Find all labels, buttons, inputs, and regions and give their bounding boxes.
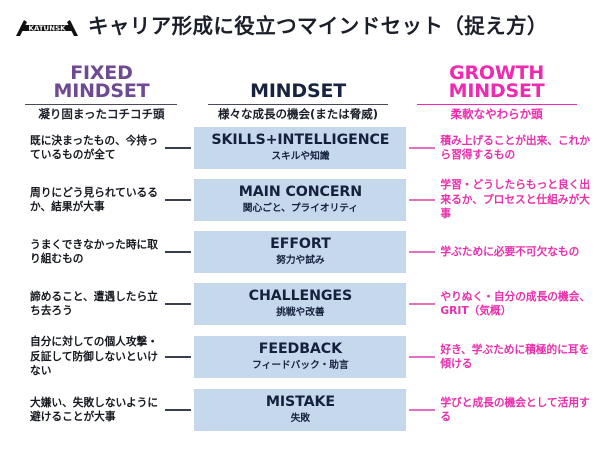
fixed-mindset-title: FIXED MINDSET	[8, 64, 195, 101]
growth-title-line2: MINDSET	[401, 82, 592, 101]
topic-label-ja: スキルや知識	[196, 150, 404, 163]
title-bar: KATUNSK キャリア形成に役立つマインドセット（捉え方）	[0, 0, 600, 52]
topic-label-ja: フィードバック・助言	[196, 359, 404, 372]
topic-label-en: EFFORT	[196, 236, 404, 253]
column-headers: FIXED MINDSET 凝り固まったコチコチ頭 MINDSET 様々な成長の…	[0, 52, 600, 122]
fixed-mindset-text: 自分に対しての個人攻撃・反証して防御しないといけない	[8, 335, 162, 379]
fixed-mindset-text: 既に決まったもの、今持っているものが全て	[8, 134, 162, 163]
topic-box: EFFORT 努力や試み	[194, 231, 406, 273]
connector-right	[406, 303, 438, 305]
column-header-growth: GROWTH MINDSET 柔軟なやわらか頭	[401, 64, 592, 123]
connector-left	[162, 147, 194, 149]
topic-label-en: SKILLS+INTELLIGENCE	[196, 132, 404, 149]
topic-box: CHALLENGES 挑戦や改善	[194, 283, 406, 325]
connector-left	[162, 303, 194, 305]
band-style-logo: KATUNSK	[14, 14, 80, 40]
mindset-header-divider	[208, 104, 388, 106]
topic-label-en: FEEDBACK	[196, 341, 404, 358]
connector-right	[406, 251, 438, 253]
topic-label-en: MISTAKE	[196, 394, 404, 411]
growth-mindset-text: 学ぶために必要不可欠なもの	[438, 245, 592, 260]
growth-header-divider	[417, 104, 577, 106]
logo-text: KATUNSK	[28, 25, 66, 33]
connector-right	[406, 409, 438, 411]
topic-label-ja: 努力や試み	[196, 254, 404, 267]
fixed-mindset-subtitle: 凝り固まったコチコチ頭	[8, 107, 195, 122]
fixed-mindset-text: 大嫌い、失敗しないように避けることが大事	[8, 396, 162, 425]
table-row: 既に決まったもの、今持っているものが全て SKILLS+INTELLIGENCE…	[8, 122, 592, 174]
growth-mindset-title: GROWTH MINDSET	[401, 64, 592, 101]
page-title: キャリア形成に役立つマインドセット（捉え方）	[88, 16, 548, 37]
table-row: 周りにどう見られているるか、結果が大事 MAIN CONCERN 関心ごと、プラ…	[8, 174, 592, 226]
mindset-title: MINDSET	[195, 82, 401, 101]
fixed-mindset-text: 周りにどう見られているるか、結果が大事	[8, 186, 162, 215]
connector-left	[162, 356, 194, 358]
mindset-subtitle: 様々な成長の機会(または脅威)	[195, 107, 401, 122]
growth-mindset-text: やりぬく・自分の成長の機会、GRIT（気概）	[438, 290, 592, 319]
topic-label-ja: 失敗	[196, 412, 404, 425]
mindset-title-line1: MINDSET	[250, 80, 346, 102]
growth-mindset-subtitle: 柔軟なやわらか頭	[401, 107, 592, 122]
column-header-mindset: MINDSET 様々な成長の機会(または脅威)	[195, 82, 401, 122]
table-row: 大嫌い、失敗しないように避けることが大事 MISTAKE 失敗 学びと成長の機会…	[8, 384, 592, 436]
connector-left	[162, 409, 194, 411]
growth-mindset-text: 学びと成長の機会として活用する	[438, 396, 592, 425]
fixed-header-divider	[25, 104, 177, 106]
fixed-mindset-text: うまくできなかった時に取り組むもの	[8, 238, 162, 267]
connector-right	[406, 147, 438, 149]
table-row: 諦めること、遭遇したら立ち去ろう CHALLENGES 挑戦や改善 やりぬく・自…	[8, 278, 592, 330]
growth-mindset-text: 学習・どうしたらもっと良く出来るか、プロセスと仕組みが大事	[438, 178, 592, 222]
topic-box: MISTAKE 失敗	[194, 389, 406, 431]
table-row: うまくできなかった時に取り組むもの EFFORT 努力や試み 学ぶために必要不可…	[8, 226, 592, 278]
connector-left	[162, 251, 194, 253]
table-row: 自分に対しての個人攻撃・反証して防御しないといけない FEEDBACK フィード…	[8, 330, 592, 384]
topic-label-ja: 挑戦や改善	[196, 306, 404, 319]
topic-label-en: MAIN CONCERN	[196, 184, 404, 201]
topic-label-ja: 関心ごと、プライオリティ	[196, 202, 404, 215]
connector-right	[406, 356, 438, 358]
topic-label-en: CHALLENGES	[196, 288, 404, 305]
comparison-rows: 既に決まったもの、今持っているものが全て SKILLS+INTELLIGENCE…	[0, 122, 600, 436]
fixed-title-line2: MINDSET	[8, 82, 195, 101]
growth-mindset-text: 積み上げることが出来、これから習得するもの	[438, 134, 592, 163]
connector-right	[406, 199, 438, 201]
topic-box: SKILLS+INTELLIGENCE スキルや知識	[194, 127, 406, 169]
fixed-mindset-text: 諦めること、遭遇したら立ち去ろう	[8, 290, 162, 319]
column-header-fixed: FIXED MINDSET 凝り固まったコチコチ頭	[8, 64, 195, 123]
topic-box: MAIN CONCERN 関心ごと、プライオリティ	[194, 179, 406, 221]
connector-left	[162, 199, 194, 201]
growth-mindset-text: 好き、学ぶために積極的に耳を傾ける	[438, 343, 592, 372]
topic-box: FEEDBACK フィードバック・助言	[194, 336, 406, 378]
